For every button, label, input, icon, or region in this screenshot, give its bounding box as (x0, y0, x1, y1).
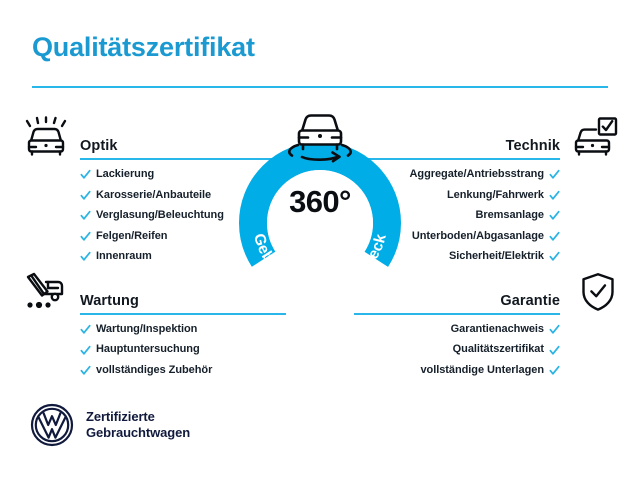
title-divider (32, 86, 608, 88)
list-item: Hauptuntersuchung (18, 344, 286, 356)
section-optik-title: Optik (80, 138, 118, 154)
list-item-label: Aggregate/Antriebsstrang (410, 169, 545, 181)
list-item-label: Lackierung (96, 169, 154, 181)
list-item-label: Garantienachweis (451, 324, 544, 336)
car-checkbox-icon (568, 114, 618, 158)
list-item: Wartung/Inspektion (18, 324, 286, 336)
check-icon (549, 324, 560, 335)
list-item-label: Unterboden/Abgasanlage (412, 231, 544, 243)
section-wartung-list: Wartung/Inspektion Hauptuntersuchung vol… (18, 324, 286, 377)
car-shine-icon (22, 114, 72, 158)
car-service-pen-icon (22, 269, 72, 313)
list-item-label: Verglasung/Beleuchtung (96, 210, 224, 222)
list-item-label: Wartung/Inspektion (96, 324, 197, 336)
volkswagen-footer-text: Zertifizierte Gebrauchtwagen (86, 409, 190, 442)
list-item-label: Sicherheit/Elektrik (449, 251, 544, 263)
section-technik-title: Technik (506, 138, 560, 154)
certificate-page: Qualitätszertifikat Optik (0, 0, 640, 480)
list-item-label: Karosserie/Anbauteile (96, 190, 211, 202)
badge-center-label: 360° (239, 184, 401, 220)
list-item: Qualitätszertifikat (354, 344, 622, 356)
check-icon (80, 231, 91, 242)
footer-line-1: Zertifizierte (86, 409, 190, 425)
volkswagen-footer: Zertifizierte Gebrauchtwagen (30, 403, 190, 447)
car-rotate-icon (280, 109, 360, 171)
list-item-label: Felgen/Reifen (96, 231, 167, 243)
check-icon (80, 324, 91, 335)
list-item-label: vollständiges Zubehör (96, 365, 212, 377)
section-garantie-title: Garantie (500, 293, 560, 309)
check-icon (80, 345, 91, 356)
section-garantie-underline (354, 313, 560, 315)
360-check-badge: Gebrauchtwagen-Check 360° (239, 142, 401, 304)
footer-line-2: Gebrauchtwagen (86, 425, 190, 441)
list-item-label: Hauptuntersuchung (96, 344, 200, 356)
list-item: vollständiges Zubehör (18, 365, 286, 377)
list-item-label: vollständige Unterlagen (420, 365, 544, 377)
check-icon (80, 365, 91, 376)
check-icon (549, 251, 560, 262)
list-item-label: Innenraum (96, 251, 152, 263)
list-item: vollständige Unterlagen (354, 365, 622, 377)
list-item-label: Bremsanlage (475, 210, 544, 222)
check-icon (549, 231, 560, 242)
section-garantie-list: Garantienachweis Qualitätszertifikat vol… (354, 324, 622, 377)
check-icon (80, 190, 91, 201)
check-icon (549, 210, 560, 221)
check-icon (549, 345, 560, 356)
list-item: Garantienachweis (354, 324, 622, 336)
shield-check-icon (568, 269, 618, 313)
section-wartung-underline (80, 313, 286, 315)
check-icon (80, 169, 91, 180)
check-icon (549, 365, 560, 376)
check-icon (549, 169, 560, 180)
section-wartung-title: Wartung (80, 293, 139, 309)
check-icon (549, 190, 560, 201)
check-icon (80, 251, 91, 262)
list-item-label: Qualitätszertifikat (453, 344, 544, 356)
check-icon (80, 210, 91, 221)
page-title: Qualitätszertifikat (32, 32, 255, 63)
list-item-label: Lenkung/Fahrwerk (447, 190, 544, 202)
volkswagen-logo (30, 403, 74, 447)
